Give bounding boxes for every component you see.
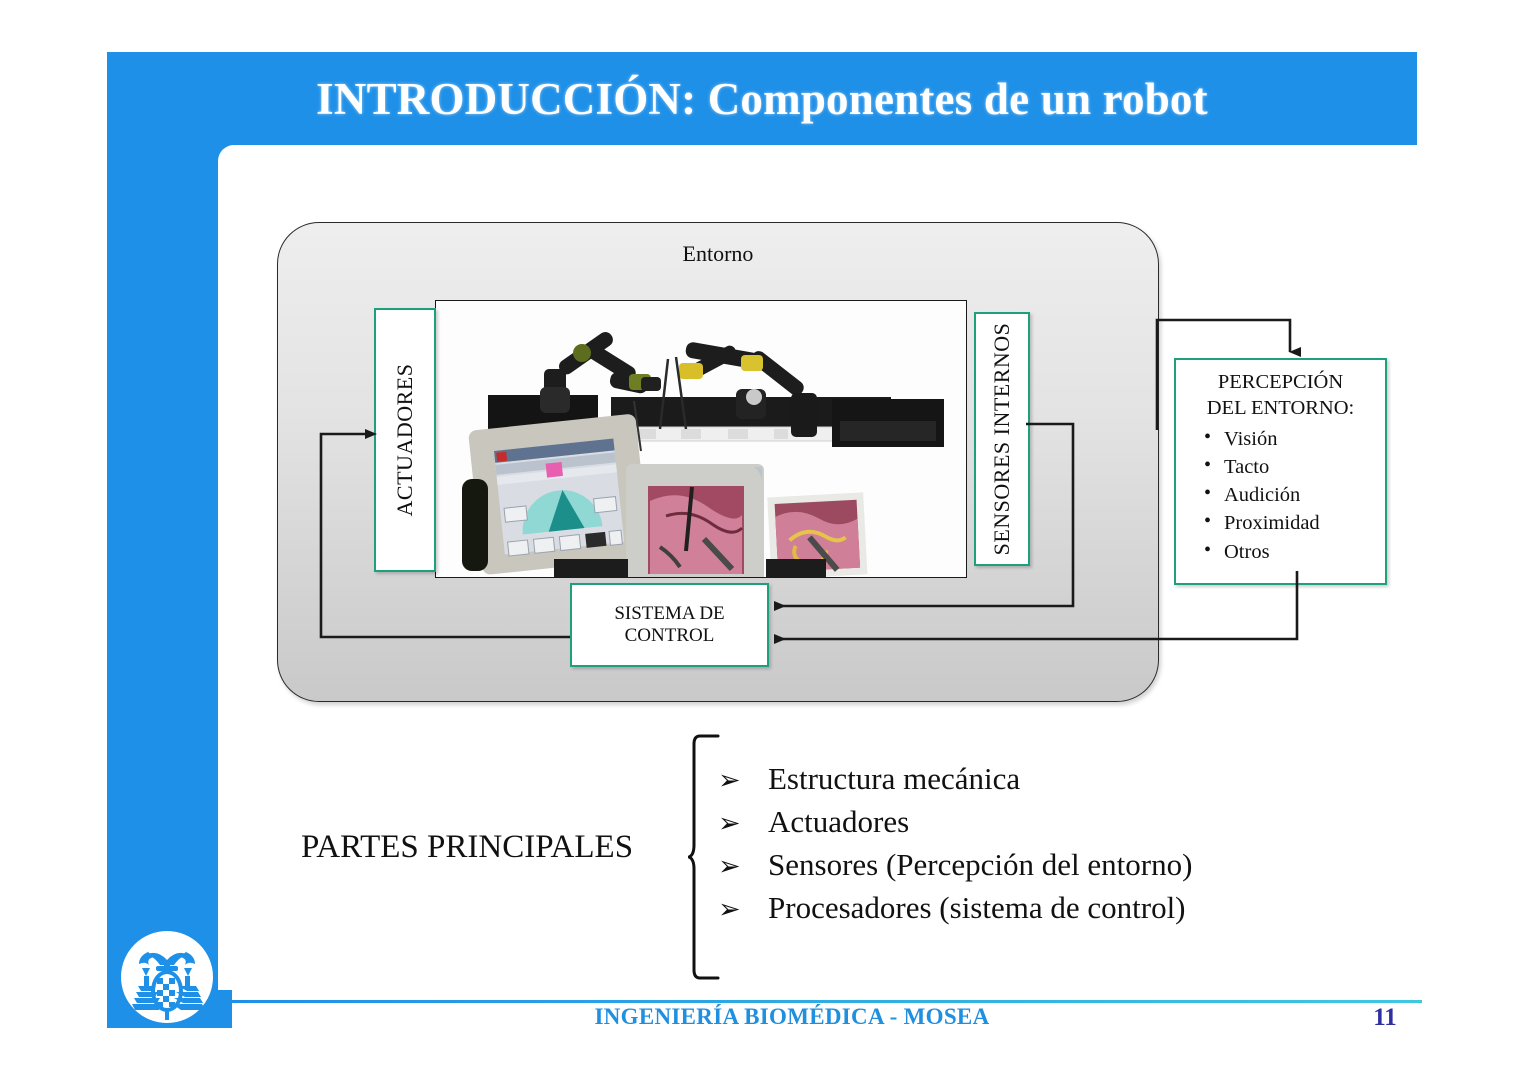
- arrow-bullet-icon: ➢: [718, 848, 768, 886]
- left-blue-rail: [107, 52, 232, 1028]
- arrow-bullet-icon: ➢: [718, 805, 768, 843]
- arrow-bullet-icon: ➢: [718, 762, 768, 800]
- control-system-text: SISTEMA DE CONTROL: [614, 603, 724, 648]
- environment-label: Entorno: [278, 241, 1158, 267]
- list-item: ➢ Sensores (Percepción del entorno): [718, 843, 1418, 886]
- main-parts-label: PARTES PRINCIPALES: [277, 829, 657, 866]
- main-parts-list: ➢ Estructura mecánica ➢ Actuadores ➢ Sen…: [718, 757, 1418, 929]
- university-crest-icon: [118, 928, 216, 1026]
- slide-header-banner: INTRODUCCIÓN: Componentes de un robot: [107, 52, 1417, 145]
- footer-divider: [232, 1000, 1422, 1003]
- robot-photo: [435, 300, 967, 578]
- control-system-box[interactable]: SISTEMA DE CONTROL: [570, 583, 769, 667]
- list-item: ➢ Estructura mecánica: [718, 757, 1418, 800]
- robot-photo-graphic: [436, 301, 966, 577]
- internal-sensors-box[interactable]: SENSORES INTERNOS: [974, 312, 1030, 566]
- slide-canvas: INTRODUCCIÓN: Componentes de un robot En…: [0, 0, 1527, 1080]
- actuators-label: ACTUADORES: [392, 364, 418, 517]
- perception-item: Tacto: [1202, 453, 1385, 481]
- perception-item: Visión: [1202, 425, 1385, 453]
- footer-text: INGENIERÍA BIOMÉDICA - MOSEA: [232, 1004, 1352, 1030]
- environment-perception-box[interactable]: PERCEPCIÓN DEL ENTORNO: Visión Tacto Aud…: [1174, 358, 1387, 585]
- internal-sensors-label: SENSORES INTERNOS: [989, 323, 1015, 556]
- list-item: ➢ Procesadores (sistema de control): [718, 886, 1418, 929]
- control-system-line1: SISTEMA DE: [614, 603, 724, 625]
- list-item: ➢ Actuadores: [718, 800, 1418, 843]
- list-item-label: Actuadores: [768, 800, 909, 843]
- page-number: 11: [1355, 1004, 1415, 1032]
- perception-item: Otros: [1202, 538, 1385, 566]
- control-system-line2: CONTROL: [614, 625, 724, 647]
- arrow-bullet-icon: ➢: [718, 891, 768, 929]
- perception-list: Visión Tacto Audición Proximidad Otros: [1176, 425, 1385, 565]
- list-item-label: Estructura mecánica: [768, 757, 1020, 800]
- actuators-box[interactable]: ACTUADORES: [374, 308, 436, 572]
- perception-heading-line2: DEL ENTORNO:: [1176, 396, 1385, 422]
- list-item-label: Sensores (Percepción del entorno): [768, 843, 1192, 886]
- perception-heading-line1: PERCEPCIÓN: [1176, 370, 1385, 396]
- page-title: INTRODUCCIÓN: Componentes de un robot: [107, 52, 1417, 145]
- perception-item: Audición: [1202, 481, 1385, 509]
- perception-heading: PERCEPCIÓN DEL ENTORNO:: [1176, 370, 1385, 421]
- list-item-label: Procesadores (sistema de control): [768, 886, 1186, 929]
- perception-item: Proximidad: [1202, 509, 1385, 537]
